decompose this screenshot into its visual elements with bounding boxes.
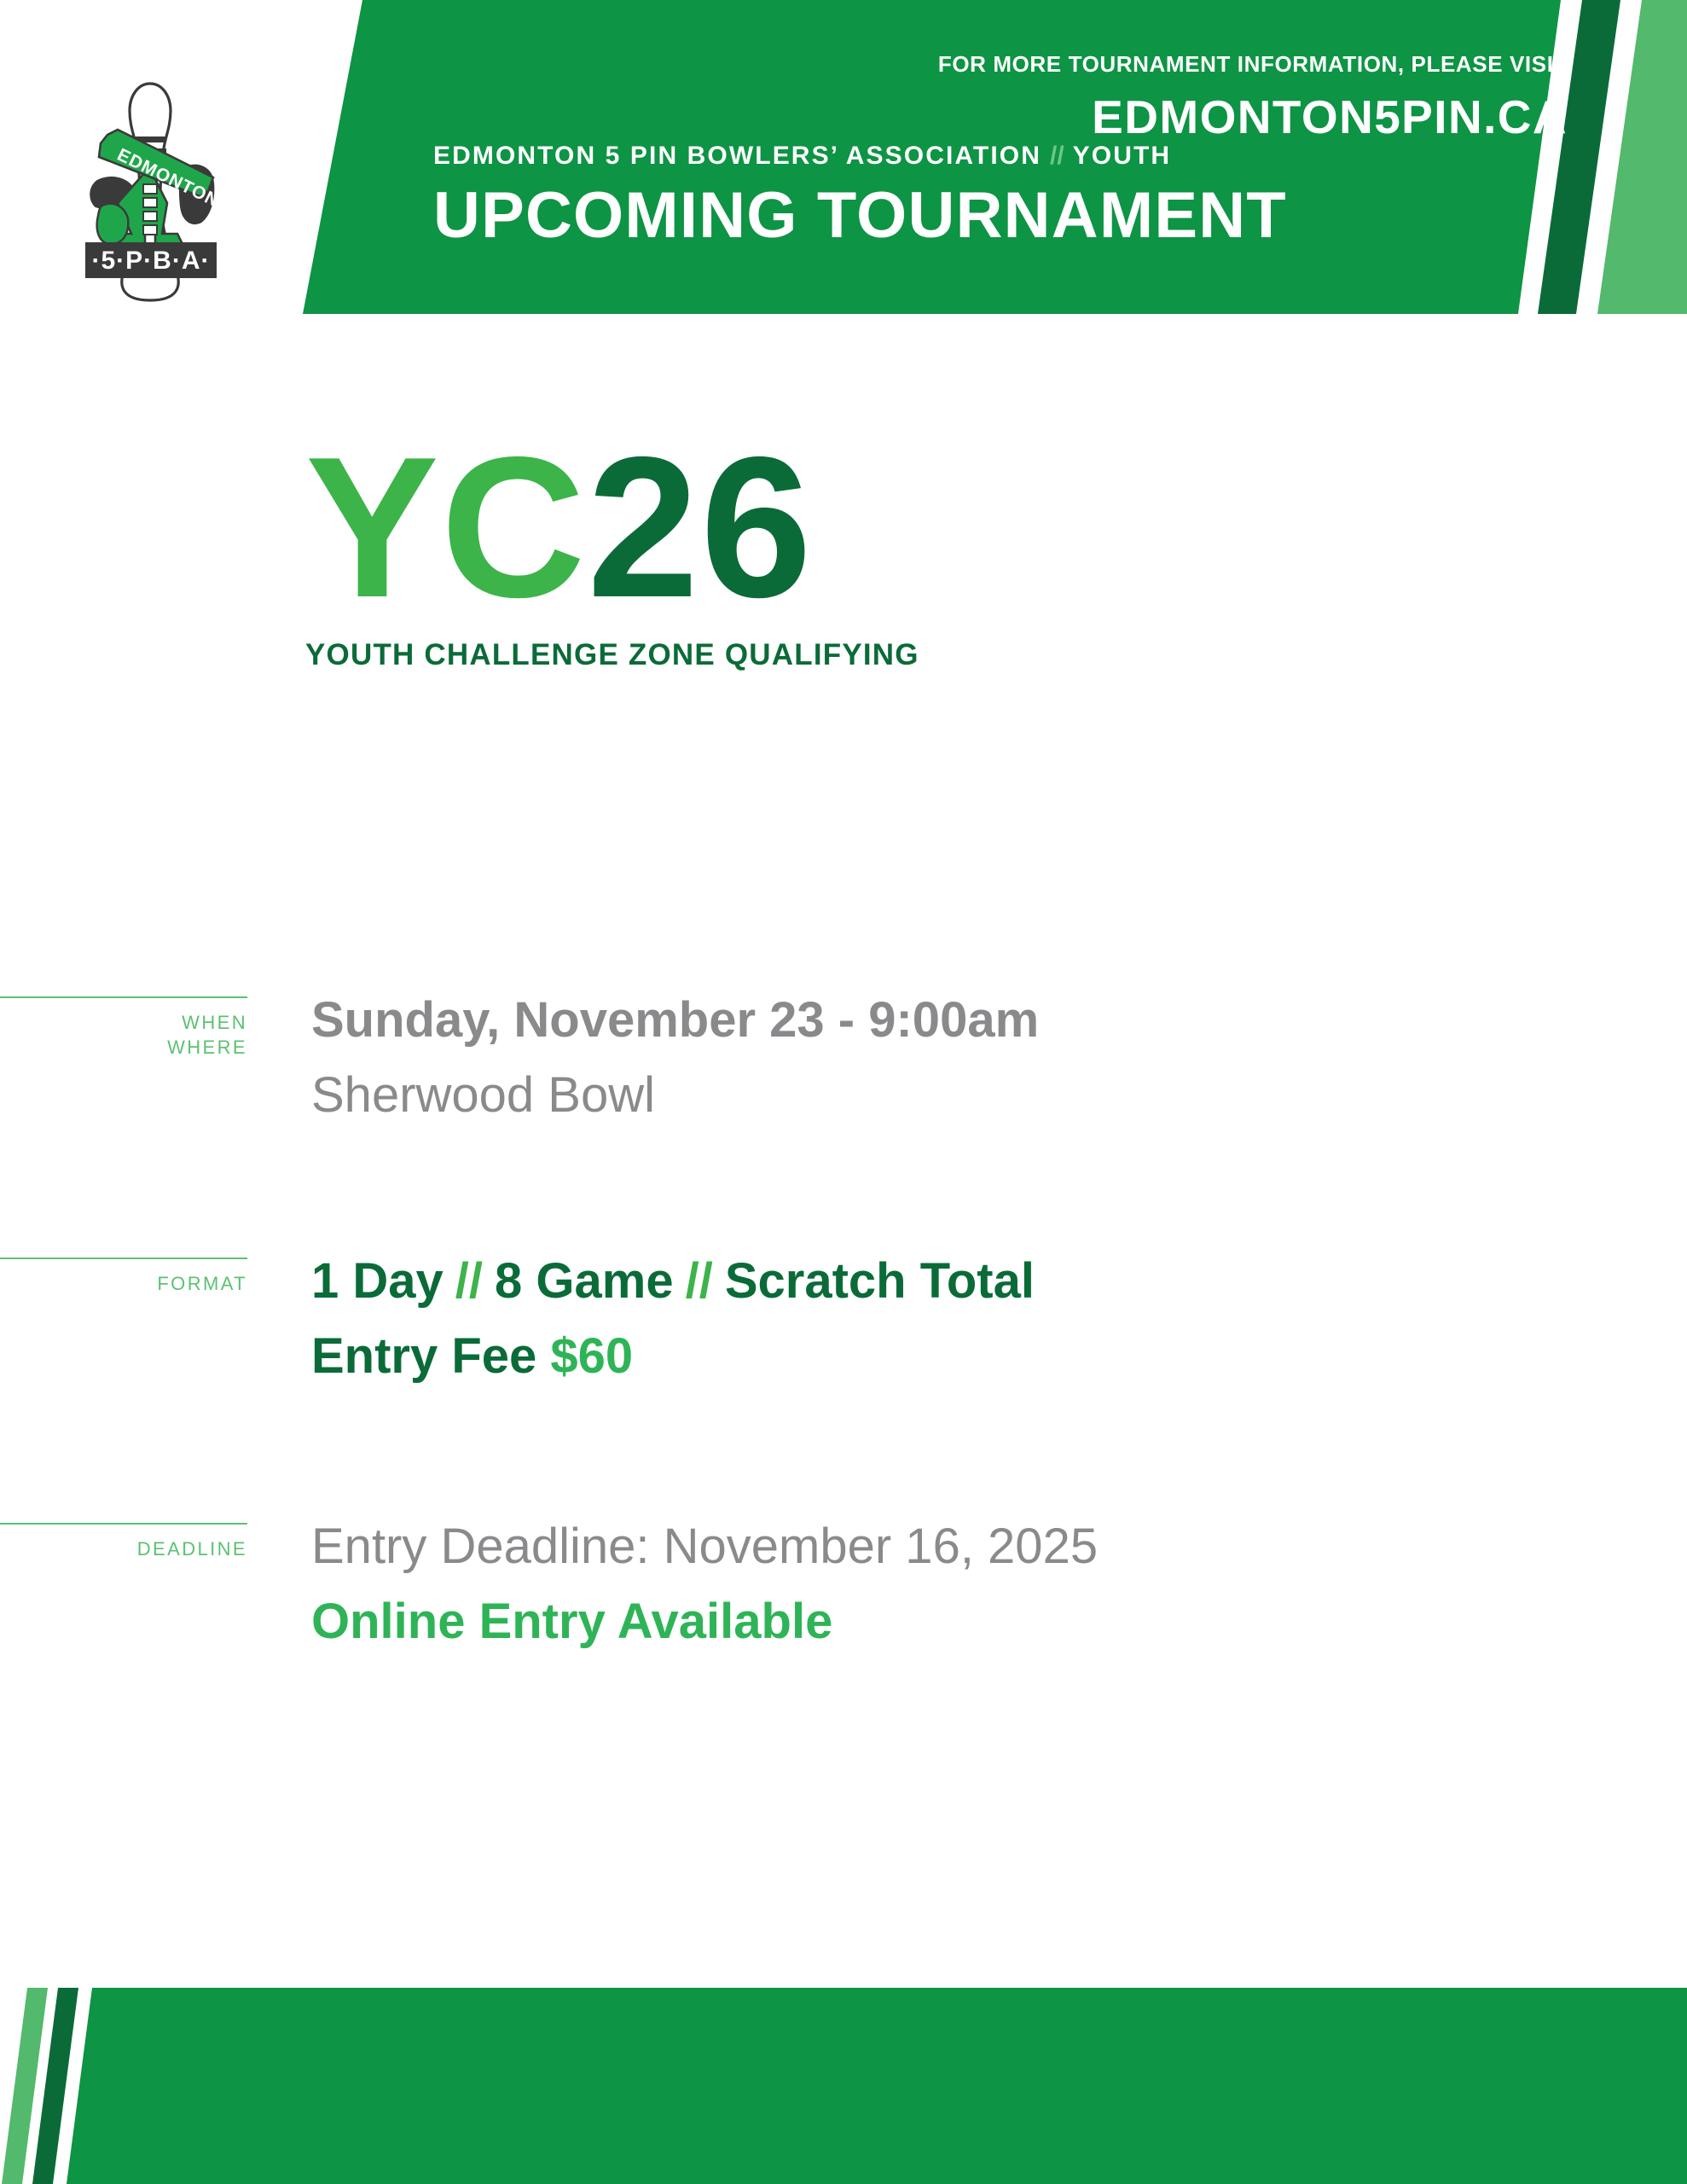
footer-text-group: FOR MORE TOURNAMENT INFORMATION, PLEASE …	[938, 53, 1568, 141]
event-code: YC26	[305, 435, 919, 619]
event-code-number: 26	[587, 415, 813, 639]
format-days: 1 Day	[311, 1253, 443, 1309]
format-line: 1 Day//8 Game//Scratch Total	[311, 1250, 1591, 1313]
footer-stripe-dark	[0, 1988, 1687, 2184]
header-slash-separator: //	[1041, 142, 1073, 170]
format-separator-2: //	[674, 1253, 725, 1309]
row-label-deadline: DEADLINE	[0, 1536, 247, 1561]
footer-band	[0, 1988, 1687, 2184]
row-rule	[0, 1258, 247, 1259]
row-label-format: FORMAT	[0, 1271, 247, 1296]
row-label-where: WHERE	[0, 1035, 247, 1060]
edmonton-5pba-logo: EDMONTON ·5·P·B·A·	[67, 77, 229, 307]
row-body: 1 Day//8 Game//Scratch Total Entry Fee$6…	[311, 1250, 1591, 1388]
entry-fee-label: Entry Fee	[311, 1328, 536, 1384]
event-datetime: Sunday, November 23 - 9:00am	[311, 989, 1591, 1052]
format-separator-1: //	[443, 1253, 495, 1309]
header-title: UPCOMING TOURNAMENT	[433, 183, 1457, 248]
header-association: EDMONTON 5 PIN BOWLERS’ ASSOCIATION	[433, 142, 1041, 170]
footer-stripe-light	[0, 1988, 1687, 2184]
entry-deadline-date: Entry Deadline: November 16, 2025	[311, 1515, 1591, 1578]
row-labels: FORMAT	[0, 1271, 247, 1296]
format-games: 8 Game	[495, 1253, 674, 1309]
row-body: Sunday, November 23 - 9:00am Sherwood Bo…	[311, 989, 1591, 1127]
footer-green-block	[0, 1988, 1687, 2184]
entry-fee-value: $60	[536, 1328, 633, 1384]
event-title-group: YC26 YOUTH CHALLENGE ZONE QUALIFYING	[305, 435, 919, 672]
header-division: YOUTH	[1073, 142, 1172, 170]
logo-icon: EDMONTON ·5·P·B·A·	[67, 77, 229, 307]
event-code-prefix: YC	[305, 415, 587, 639]
row-body: Entry Deadline: November 16, 2025 Online…	[311, 1515, 1591, 1653]
row-rule	[0, 996, 247, 998]
svg-text:·5·P·B·A·: ·5·P·B·A·	[92, 247, 211, 275]
header-text-group: EDMONTON 5 PIN BOWLERS’ ASSOCIATION//YOU…	[433, 143, 1457, 248]
event-venue: Sherwood Bowl	[311, 1064, 1591, 1127]
online-entry-note: Online Entry Available	[311, 1590, 1591, 1653]
format-scoring: Scratch Total	[725, 1253, 1035, 1309]
footer-website-url[interactable]: EDMONTON5PIN.CA	[938, 94, 1568, 141]
poster-canvas: EDMONTON 5 PIN BOWLERS’ ASSOCIATION//YOU…	[0, 0, 1687, 2184]
row-label-when: WHEN	[0, 1010, 247, 1035]
row-labels: WHEN WHERE	[0, 1010, 247, 1060]
event-subtitle: YOUTH CHALLENGE ZONE QUALIFYING	[305, 638, 919, 672]
row-rule	[0, 1523, 247, 1525]
row-labels: DEADLINE	[0, 1536, 247, 1561]
header-kicker: EDMONTON 5 PIN BOWLERS’ ASSOCIATION//YOU…	[433, 143, 1457, 169]
footer-kicker: FOR MORE TOURNAMENT INFORMATION, PLEASE …	[938, 53, 1568, 75]
entry-fee-line: Entry Fee$60	[311, 1325, 1591, 1388]
